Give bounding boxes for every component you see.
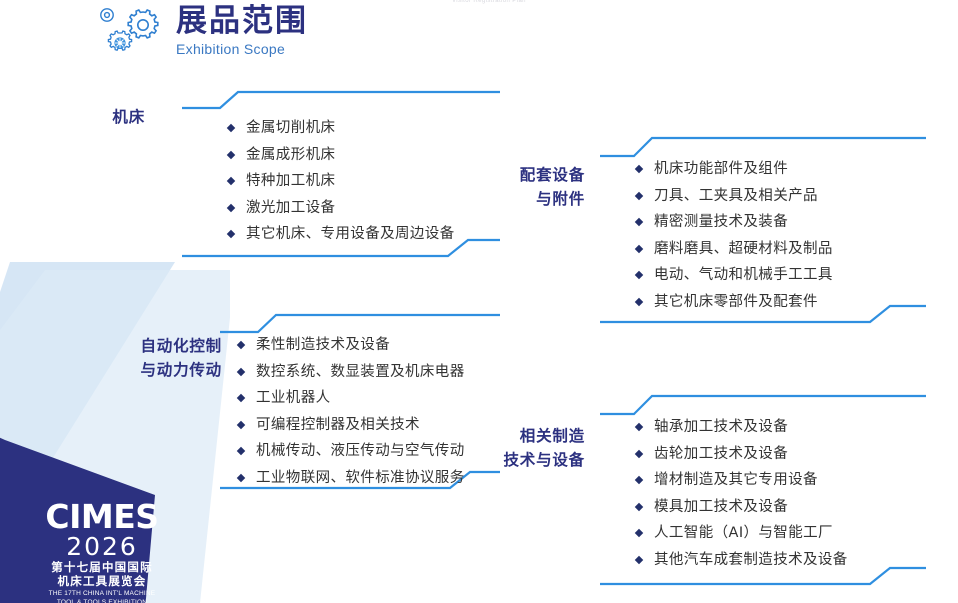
small-gear-icon (101, 9, 113, 21)
list-item: 精密测量技术及装备 (636, 209, 833, 236)
gears-icon-group (96, 6, 168, 54)
list-item-label: 柔性制造技术及设备 (256, 332, 390, 359)
list-item-label: 轴承加工技术及设备 (654, 414, 788, 441)
section-3-label: 自动化控制 与动力传动 (90, 334, 222, 382)
section-2-label: 配套设备 与附件 (470, 163, 585, 211)
list-item: 金属成形机床 (228, 142, 455, 169)
diamond-bullet-icon (635, 218, 643, 226)
section-4-items: 轴承加工技术及设备 齿轮加工技术及设备 增材制造及其它专用设备 模具加工技术及设… (636, 414, 848, 573)
page-title: 展品范围 (176, 2, 308, 40)
diamond-bullet-icon (237, 394, 245, 402)
list-item: 机械传动、液压传动与空气传动 (238, 438, 465, 465)
page-subtitle: Exhibition Scope (176, 40, 308, 58)
section-3-label-line: 与动力传动 (90, 358, 222, 382)
diamond-bullet-icon (635, 503, 643, 511)
list-item-label: 可编程控制器及相关技术 (256, 412, 420, 439)
diamond-bullet-icon (237, 421, 245, 429)
list-item: 齿轮加工技术及设备 (636, 441, 848, 468)
list-item: 轴承加工技术及设备 (636, 414, 848, 441)
list-item: 模具加工技术及设备 (636, 494, 848, 521)
list-item: 机床功能部件及组件 (636, 156, 833, 183)
list-item: 激光加工设备 (228, 195, 455, 222)
page-header: 展品范围 Exhibition Scope (96, 2, 516, 64)
list-item: 柔性制造技术及设备 (238, 332, 465, 359)
diamond-bullet-icon (635, 450, 643, 458)
logo-year: 2026 (32, 534, 172, 560)
list-item: 其它机床零部件及配套件 (636, 289, 833, 316)
title-block: 展品范围 Exhibition Scope (176, 2, 308, 58)
logo-en-block: THE 17TH CHINA INT'L MACHINE TOOL & TOOL… (32, 590, 172, 603)
logo-cn-line1: 第十七届中国国际 (32, 560, 172, 574)
diamond-bullet-icon (635, 423, 643, 431)
diamond-bullet-icon (635, 556, 643, 564)
section-3-items: 柔性制造技术及设备 数控系统、数显装置及机床电器 工业机器人 可编程控制器及相关… (238, 332, 465, 491)
list-item-label: 人工智能（AI）与智能工厂 (654, 520, 833, 547)
diamond-bullet-icon (635, 165, 643, 173)
diamond-bullet-icon (635, 476, 643, 484)
dotted-gear-icon (108, 31, 131, 50)
list-item: 其他汽车成套制造技术及设备 (636, 547, 848, 574)
list-item-label: 模具加工技术及设备 (654, 494, 788, 521)
gear-icons-svg (96, 6, 168, 54)
logo-en-line2: TOOL & TOOLS EXHIBITION (32, 599, 172, 603)
section-4-label-line: 技术与设备 (452, 448, 585, 472)
list-item-label: 电动、气动和机械手工工具 (654, 262, 833, 289)
diamond-bullet-icon (635, 245, 643, 253)
section-4-label: 相关制造 技术与设备 (452, 424, 585, 472)
list-item: 数控系统、数显装置及机床电器 (238, 359, 465, 386)
list-item: 其它机床、专用设备及周边设备 (228, 221, 455, 248)
list-item: 增材制造及其它专用设备 (636, 467, 848, 494)
section-1-items: 金属切削机床 金属成形机床 特种加工机床 激光加工设备 其它机床、专用设备及周边… (228, 115, 455, 248)
logo-cn-line2: 机床工具展览会 (32, 574, 172, 588)
diamond-bullet-icon (227, 177, 235, 185)
section-2-items: 机床功能部件及组件 刀具、工夹具及相关产品 精密测量技术及装备 磨料磨具、超硬材… (636, 156, 833, 315)
list-item-label: 其它机床、专用设备及周边设备 (246, 221, 455, 248)
list-item-label: 激光加工设备 (246, 195, 335, 222)
logo-en-line1: THE 17TH CHINA INT'L MACHINE (32, 590, 172, 599)
list-item: 工业物联网、软件标准协议服务 (238, 465, 465, 492)
diamond-bullet-icon (635, 271, 643, 279)
list-item-label: 特种加工机床 (246, 168, 335, 195)
list-item: 人工智能（AI）与智能工厂 (636, 520, 848, 547)
section-3-label-line: 自动化控制 (90, 334, 222, 358)
exhibition-scope-page: Visitor Registration Plan (0, 0, 958, 603)
section-1-label: 机床 (60, 105, 145, 129)
cimes-logo: CIMES 2026 第十七届中国国际 机床工具展览会 THE 17TH CHI… (32, 500, 172, 603)
list-item-label: 其他汽车成套制造技术及设备 (654, 547, 848, 574)
list-item: 可编程控制器及相关技术 (238, 412, 465, 439)
list-item-label: 刀具、工夹具及相关产品 (654, 183, 818, 210)
list-item-label: 精密测量技术及装备 (654, 209, 788, 236)
diamond-bullet-icon (227, 124, 235, 132)
list-item: 工业机器人 (238, 385, 465, 412)
diamond-bullet-icon (237, 341, 245, 349)
list-item: 刀具、工夹具及相关产品 (636, 183, 833, 210)
list-item: 磨料磨具、超硬材料及制品 (636, 236, 833, 263)
list-item-label: 金属切削机床 (246, 115, 335, 142)
diamond-bullet-icon (227, 230, 235, 238)
diamond-bullet-icon (635, 192, 643, 200)
list-item-label: 齿轮加工技术及设备 (654, 441, 788, 468)
list-item: 电动、气动和机械手工工具 (636, 262, 833, 289)
diamond-bullet-icon (635, 529, 643, 537)
list-item-label: 增材制造及其它专用设备 (654, 467, 818, 494)
section-2-label-line: 配套设备 (470, 163, 585, 187)
diamond-bullet-icon (237, 474, 245, 482)
logo-brand: CIMES (32, 500, 172, 534)
large-gear-icon (128, 10, 158, 38)
section-1-label-line: 机床 (60, 105, 145, 129)
diamond-bullet-icon (635, 298, 643, 306)
list-item: 金属切削机床 (228, 115, 455, 142)
diamond-bullet-icon (237, 368, 245, 376)
list-item-label: 其它机床零部件及配套件 (654, 289, 818, 316)
list-item-label: 机械传动、液压传动与空气传动 (256, 438, 465, 465)
diamond-bullet-icon (227, 204, 235, 212)
list-item-label: 金属成形机床 (246, 142, 335, 169)
list-item: 特种加工机床 (228, 168, 455, 195)
list-item-label: 磨料磨具、超硬材料及制品 (654, 236, 833, 263)
list-item-label: 工业物联网、软件标准协议服务 (256, 465, 465, 492)
list-item-label: 数控系统、数显装置及机床电器 (256, 359, 465, 386)
section-2-label-line: 与附件 (470, 187, 585, 211)
section-4-label-line: 相关制造 (452, 424, 585, 448)
list-item-label: 机床功能部件及组件 (654, 156, 788, 183)
diamond-bullet-icon (237, 447, 245, 455)
diamond-bullet-icon (227, 151, 235, 159)
list-item-label: 工业机器人 (256, 385, 331, 412)
